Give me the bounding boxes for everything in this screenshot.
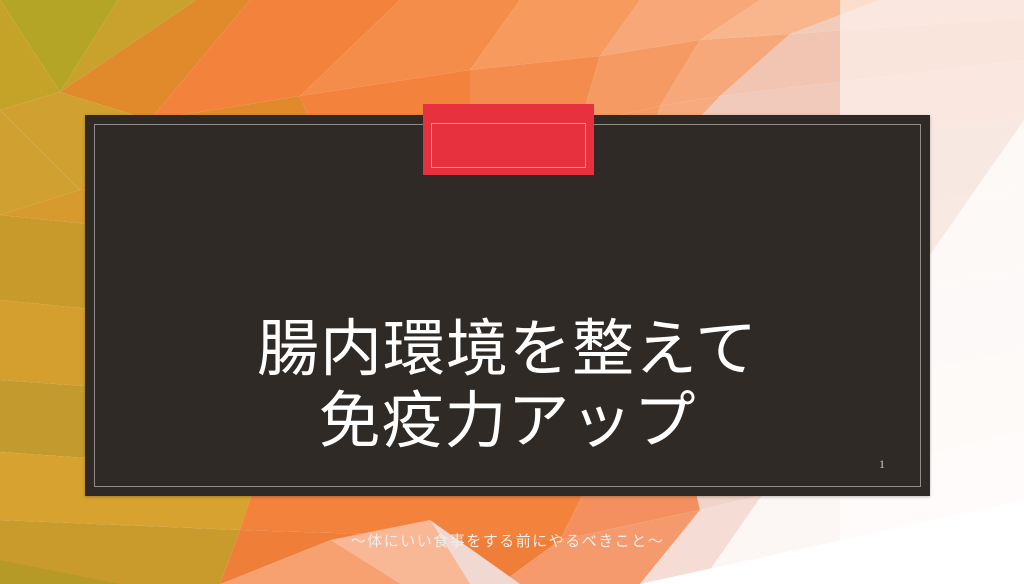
page-number: 1: [879, 457, 885, 472]
accent-inner-border: [431, 123, 586, 168]
slide-subtitle: 〜体にいい食事をする前にやるべきこと〜: [85, 530, 930, 551]
red-accent-block: [423, 104, 594, 175]
title-line-1: 腸内環境を整えて: [85, 313, 930, 385]
slide-title: 腸内環境を整えて 免疫力アップ: [85, 313, 930, 457]
presentation-slide: 腸内環境を整えて 免疫力アップ 〜体にいい食事をする前にやるべきこと〜 1: [0, 0, 1024, 584]
title-line-2: 免疫力アップ: [85, 385, 930, 457]
